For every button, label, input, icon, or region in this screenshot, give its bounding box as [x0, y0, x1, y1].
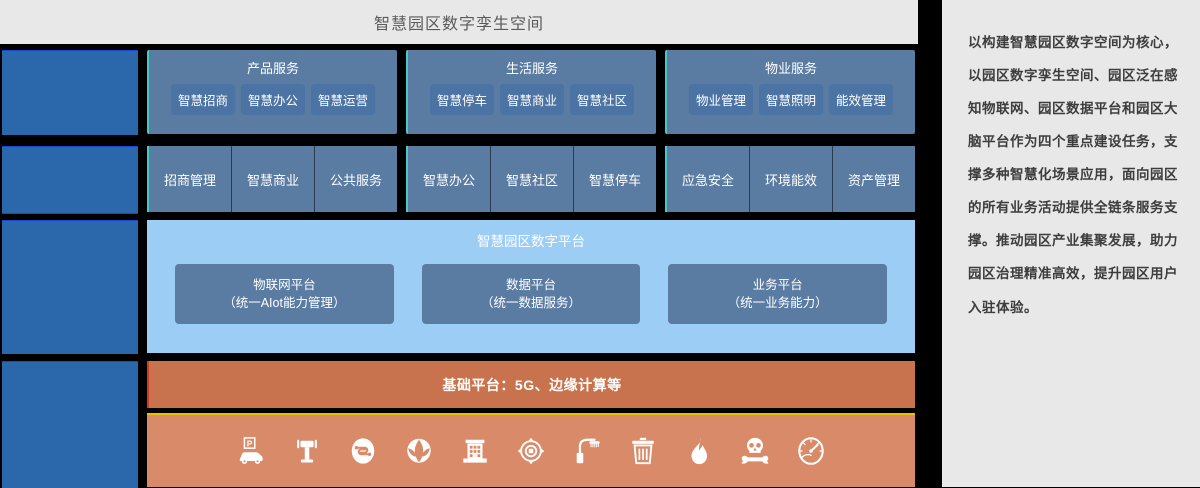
paas-box[interactable]: 数据平台 （统一数据服务）: [422, 264, 641, 324]
scene-chip-list: 智慧停车 智慧商业 智慧社区: [430, 84, 634, 115]
saas-cell[interactable]: 智慧商业: [232, 146, 315, 212]
saas-cell[interactable]: 环境能效: [750, 146, 833, 212]
iaas-icon-strip: P: [147, 413, 915, 487]
saas-cell[interactable]: 应急安全: [667, 146, 750, 212]
saas-cell[interactable]: 资产管理: [833, 146, 915, 212]
street-light-icon: [572, 436, 602, 466]
saas-group: 应急安全 环境能效 资产管理: [665, 146, 915, 212]
circuit-exchange-icon: [348, 436, 378, 466]
layer-tag-paas-label: PAAS: [49, 280, 91, 296]
scene-layer: 产品服务 智慧招商 智慧办公 智慧运营 生活服务 智慧停车 智慧商业 智慧社区 …: [147, 50, 915, 134]
saas-cell[interactable]: 智慧办公: [408, 146, 491, 212]
architecture-layers: 智慧场景 SAAS PAAS IAAS 产品服务 智慧招商 智慧办公 智慧运营 …: [0, 46, 918, 487]
scene-chip[interactable]: 能效管理: [829, 84, 893, 115]
scene-group-title: 产品服务: [247, 58, 299, 77]
saas-cell[interactable]: 智慧社区: [491, 146, 574, 212]
scene-chip[interactable]: 智慧招商: [171, 84, 235, 115]
paas-box-title: 物联网平台: [253, 276, 316, 294]
paas-box-title: 数据平台: [506, 276, 556, 294]
paas-box-subtitle: （统一业务能力）: [728, 294, 828, 312]
saas-group: 智慧办公 智慧社区 智慧停车: [406, 146, 656, 212]
water-valve-icon: [292, 436, 322, 466]
scene-chip-list: 智慧招商 智慧办公 智慧运营: [171, 84, 375, 115]
scene-group-title: 生活服务: [506, 58, 558, 77]
layer-tag-scene[interactable]: 智慧场景: [2, 50, 138, 135]
sensor-target-icon: [516, 436, 546, 466]
saas-cell[interactable]: 招商管理: [149, 146, 232, 212]
page-title: 智慧园区数字孪生空间: [374, 10, 544, 34]
saas-cell[interactable]: 智慧停车: [574, 146, 656, 212]
base-platform-label: 基础平台：5G、边缘计算等: [442, 375, 621, 395]
scene-chip[interactable]: 智慧停车: [430, 84, 494, 115]
scene-chip-list: 物业管理 智慧照明 能效管理: [689, 84, 893, 115]
paas-box[interactable]: 物联网平台 （统一AIot能力管理）: [175, 264, 394, 324]
scene-group-title: 物业服务: [765, 58, 817, 77]
layer-tag-iaas-label: IAAS: [51, 417, 88, 433]
trash-bin-icon: [628, 436, 658, 466]
plant-leaf-icon: [404, 436, 434, 466]
layer-tag-saas[interactable]: SAAS: [2, 146, 138, 214]
scene-chip[interactable]: 智慧商业: [500, 84, 564, 115]
description-panel: 以构建智慧园区数字空间为核心，以园区数字孪生空间、园区泛在感知物联网、园区数据平…: [942, 0, 1200, 487]
saas-cell[interactable]: 公共服务: [315, 146, 397, 212]
layer-tag-paas[interactable]: PAAS: [2, 220, 138, 354]
saas-group: 招商管理 智慧商业 公共服务: [147, 146, 397, 212]
paas-box-subtitle: （统一数据服务）: [481, 294, 581, 312]
saas-layer: 招商管理 智慧商业 公共服务 智慧办公 智慧社区 智慧停车 应急安全 环境能效 …: [147, 146, 915, 212]
scene-chip[interactable]: 智慧社区: [570, 84, 634, 115]
paas-box-list: 物联网平台 （统一AIot能力管理） 数据平台 （统一数据服务） 业务平台 （统…: [147, 264, 915, 324]
layer-tag-saas-label: SAAS: [49, 172, 92, 188]
layer-tag-iaas[interactable]: IAAS: [2, 361, 138, 488]
paas-box-title: 业务平台: [753, 276, 803, 294]
paas-box-subtitle: （统一AIot能力管理）: [223, 294, 345, 312]
parking-car-icon: P: [236, 436, 266, 466]
description-text: 以构建智慧园区数字空间为核心，以园区数字孪生空间、园区泛在感知物联网、园区数据平…: [968, 26, 1178, 324]
building-icon: [460, 436, 490, 466]
scene-chip[interactable]: 物业管理: [689, 84, 753, 115]
diagram-header: 智慧园区数字孪生空间: [0, 0, 918, 44]
paas-layer: 智慧园区数字平台 物联网平台 （统一AIot能力管理） 数据平台 （统一数据服务…: [147, 220, 915, 353]
scene-group[interactable]: 产品服务 智慧招商 智慧办公 智慧运营: [147, 50, 397, 134]
scene-group[interactable]: 生活服务 智慧停车 智慧商业 智慧社区: [406, 50, 656, 134]
paas-title: 智慧园区数字平台: [147, 230, 915, 250]
scene-chip[interactable]: 智慧照明: [759, 84, 823, 115]
scene-group[interactable]: 物业服务 物业管理 智慧照明 能效管理: [665, 50, 915, 134]
paas-box[interactable]: 业务平台 （统一业务能力）: [668, 264, 887, 324]
svg-text:P: P: [247, 438, 253, 448]
scene-chip[interactable]: 智慧办公: [241, 84, 305, 115]
scene-chip[interactable]: 智慧运营: [311, 84, 375, 115]
digital-twin-architecture-diagram: 智慧园区数字孪生空间 智慧场景 SAAS PAAS IAAS 产品服务 智慧招商…: [0, 0, 1200, 487]
flame-icon: [684, 436, 714, 466]
layer-tag-scene-label: 智慧场景: [40, 83, 100, 103]
hazard-skull-icon: [740, 436, 770, 466]
gauge-meter-icon: [796, 436, 826, 466]
base-platform-bar[interactable]: 基础平台：5G、边缘计算等: [147, 361, 915, 408]
